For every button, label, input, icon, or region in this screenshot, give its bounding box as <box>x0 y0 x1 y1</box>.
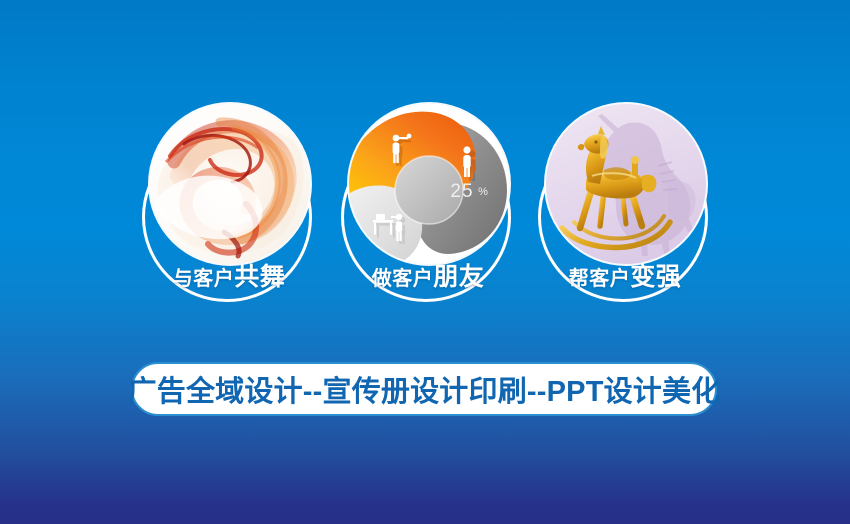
feature-card-make-client-stronger[interactable]: 帮客户变强 <box>532 96 718 328</box>
card-label-emph: 朋友 <box>433 263 484 291</box>
feature-card-dance-with-client[interactable]: 与客户共舞 <box>136 96 322 328</box>
card-label-lead: 做客户 <box>372 268 434 290</box>
card-label-lead: 帮客户 <box>569 268 631 290</box>
orange-smoke-swirl-artwork <box>150 104 310 264</box>
poster-canvas: 与客户共舞 <box>0 0 850 524</box>
card-label-emph: 共舞 <box>234 263 285 291</box>
service-banner[interactable]: 广告全域设计--宣传册设计印刷--PPT设计美化 <box>131 362 717 416</box>
orange-gray-infographic-artwork: 25 % <box>349 104 509 264</box>
card-label-lead: 与客户 <box>173 268 235 290</box>
card-label-be-client-friend: 做客户朋友 <box>335 262 521 294</box>
golden-rocking-horse-artwork <box>546 104 706 264</box>
infographic-stat-value: 25 <box>450 181 473 202</box>
card-label-dance-with-client: 与客户共舞 <box>136 262 322 294</box>
feature-card-be-client-friend[interactable]: 25 % <box>335 96 521 328</box>
svg-text:%: % <box>478 186 488 198</box>
service-banner-text: 广告全域设计--宣传册设计印刷--PPT设计美化 <box>128 368 721 410</box>
card-label-emph: 变强 <box>630 263 681 291</box>
card-label-make-client-stronger: 帮客户变强 <box>532 262 718 294</box>
